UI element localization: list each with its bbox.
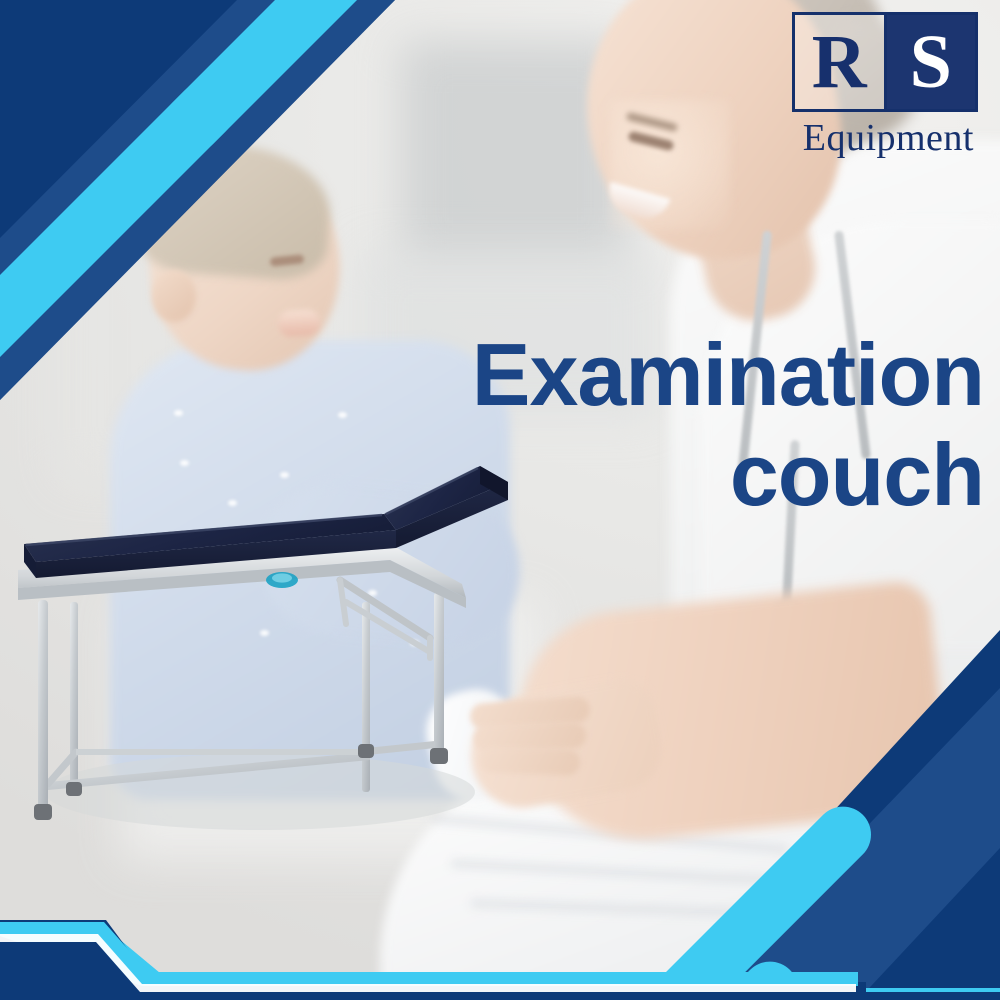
logo-monogram-box: R S xyxy=(792,12,978,112)
logo-wordmark: Equipment xyxy=(788,116,978,160)
headline-line-1: Examination xyxy=(284,330,984,420)
pajama-speck xyxy=(174,410,183,416)
headline-line-2: couch xyxy=(284,430,984,520)
headline: Examination couch xyxy=(284,330,984,520)
logo-letter-r: R xyxy=(795,15,887,109)
logo-letter-s: S xyxy=(887,15,976,109)
promo-banner: R S Equipment Examination couch xyxy=(0,0,1000,1000)
child-hair xyxy=(136,140,335,283)
brand-logo[interactable]: R S Equipment xyxy=(788,12,978,160)
child-ear xyxy=(152,270,196,322)
